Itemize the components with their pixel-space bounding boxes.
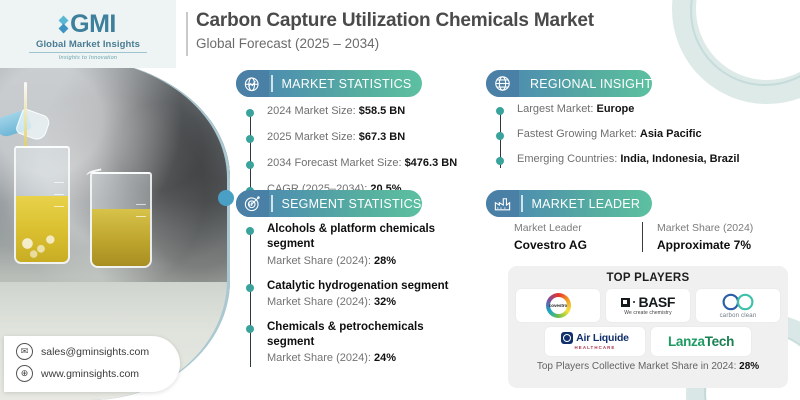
globe-chart-icon <box>236 70 269 97</box>
bullet-dot <box>496 107 504 115</box>
segment-share-label: Market Share (2024): <box>267 352 374 364</box>
bullet-dot <box>246 284 254 292</box>
gmi-logo-text: GMI <box>70 12 116 37</box>
bullet-dot <box>496 157 504 165</box>
globe-icon <box>486 70 519 97</box>
section-label: MARKET STATISTICS <box>282 77 412 91</box>
list-item: 2034 Forecast Market Size: $476.3 BN <box>246 156 460 172</box>
section-label: SEGMENT STATISTICS <box>282 197 422 211</box>
bullet-dot <box>246 161 254 169</box>
logo-carbon-clean[interactable]: carbon clean <box>696 289 780 322</box>
basf-dot-icon <box>633 301 636 304</box>
contact-website: www.gminsights.com <box>41 368 139 380</box>
graduation-line <box>54 206 64 207</box>
segment-share-value: 32% <box>374 296 396 308</box>
stat-label: 2034 Forecast Market Size: <box>267 157 405 169</box>
segment-share-label: Market Share (2024): <box>267 255 374 267</box>
stat-label: 2025 Market Size: <box>267 131 359 143</box>
regional-insights-list: Largest Market: Europe Fastest Growing M… <box>496 102 786 177</box>
list-item: Emerging Countries: India, Indonesia, Br… <box>496 152 786 168</box>
logo-air-liquide-sub: HEALTHCARE <box>575 346 616 350</box>
top-players-row-1: covestro BASF We create chemistry <box>516 289 780 322</box>
stat-value: $476.3 BN <box>405 157 458 169</box>
logo-air-liquide[interactable]: Air Liquide HEALTHCARE <box>545 327 645 356</box>
segment-name: Alcohols & platform chemicals segment <box>267 222 458 253</box>
region-label: Largest Market: <box>517 103 596 115</box>
segment-share-label: Market Share (2024): <box>267 296 374 308</box>
market-leader-column: Market Leader Covestro AG <box>500 222 642 252</box>
bullet-dot <box>246 227 254 235</box>
region-value: Asia Pacific <box>640 128 702 140</box>
logo-carbon-clean-text: carbon clean <box>718 313 758 319</box>
market-share-value: Approximate 7% <box>657 238 784 252</box>
segment-statistics-list: Alcohols & platform chemicals segment Ma… <box>246 222 458 376</box>
top-players-title: TOP PLAYERS <box>516 272 780 284</box>
beaker-left <box>14 146 70 264</box>
bullet-dot <box>246 325 254 333</box>
liquid-stream <box>24 82 27 148</box>
gmi-logo[interactable]: GMI Global Market Insights Insights to I… <box>8 12 168 61</box>
basf-square-icon <box>621 298 630 307</box>
contact-website-row[interactable]: ⊕ www.gminsights.com <box>16 365 180 382</box>
page-header: GMI Global Market Insights Insights to I… <box>0 0 800 68</box>
factory-icon <box>486 190 519 217</box>
logo-rule <box>29 52 147 53</box>
gmi-logo-tagline: Insights to Innovation <box>8 55 168 61</box>
page-title: Carbon Capture Utilization Chemicals Mar… <box>196 8 594 34</box>
beaker-right <box>90 172 152 268</box>
region-value: India, Indonesia, Brazil <box>620 153 739 165</box>
list-item: Alcohols & platform chemicals segment Ma… <box>246 222 458 270</box>
air-liquide-badge-icon <box>561 332 573 344</box>
segment-name: Catalytic hydrogenation segment <box>267 279 458 294</box>
top-players-footer: Top Players Collective Market Share in 2… <box>516 361 780 372</box>
market-share-column: Market Share (2024) Approximate 7% <box>642 222 784 252</box>
section-label: REGIONAL INSIGHTS <box>530 77 661 91</box>
stat-value: $58.5 BN <box>359 105 405 117</box>
section-header-market-statistics: MARKET STATISTICS <box>236 70 422 97</box>
segment-share-value: 28% <box>374 255 396 267</box>
bullet-dot <box>496 132 504 140</box>
infographic-canvas: GMI Global Market Insights Insights to I… <box>0 0 800 400</box>
contact-panel: ✉ sales@gminsights.com ⊕ www.gminsights.… <box>4 336 180 392</box>
collective-share-value: 28% <box>739 361 759 372</box>
list-item: Catalytic hydrogenation segment Market S… <box>246 279 458 311</box>
graduation-line <box>136 204 146 205</box>
region-label: Fastest Growing Market: <box>517 128 640 140</box>
email-icon: ✉ <box>16 343 33 360</box>
pill-separator <box>271 75 273 92</box>
title-divider <box>186 12 188 56</box>
gmi-logo-name: Global Market Insights <box>8 39 168 50</box>
contact-email-row[interactable]: ✉ sales@gminsights.com <box>16 343 180 360</box>
top-players-card: TOP PLAYERS covestro BASF We create chem… <box>508 266 788 388</box>
section-header-market-leader: MARKET LEADER <box>486 190 652 217</box>
graduation-line <box>54 194 64 195</box>
contact-email: sales@gminsights.com <box>41 346 149 358</box>
carbon-clean-infinity-icon <box>718 293 758 311</box>
title-block: Carbon Capture Utilization Chemicals Mar… <box>196 8 594 51</box>
gmi-logo-mark: GMI <box>8 12 168 37</box>
logo-covestro[interactable]: covestro <box>516 289 600 322</box>
section-header-regional-insights: REGIONAL INSIGHTS <box>486 70 652 97</box>
page-subtitle: Global Forecast (2025 – 2034) <box>196 36 594 51</box>
logo-basf-tagline: We create chemistry <box>621 311 675 316</box>
logo-basf[interactable]: BASF We create chemistry <box>606 289 690 322</box>
logo-lanzatech[interactable]: LanzaTech <box>651 327 751 356</box>
graduation-line <box>54 182 64 183</box>
region-value: Europe <box>596 103 634 115</box>
market-leader-value: Covestro AG <box>514 238 642 252</box>
graduation-line <box>136 216 146 217</box>
stat-value: $67.3 BN <box>359 131 405 143</box>
logo-lanzatech-text-2: Tech <box>705 334 734 349</box>
logo-lanzatech-text-1: Lanza <box>668 334 705 349</box>
target-chart-icon <box>236 190 269 217</box>
globe-icon: ⊕ <box>16 365 33 382</box>
stat-label: 2024 Market Size: <box>267 105 359 117</box>
segment-share-value: 24% <box>374 352 396 364</box>
region-label: Emerging Countries: <box>517 153 620 165</box>
top-players-row-2: Air Liquide HEALTHCARE LanzaTech <box>516 327 780 356</box>
beaker-right-liquid <box>92 209 150 266</box>
collective-share-label: Top Players Collective Market Share in 2… <box>537 361 739 372</box>
list-item: Fastest Growing Market: Asia Pacific <box>496 127 786 143</box>
list-item: 2025 Market Size: $67.3 BN <box>246 130 460 146</box>
logo-air-liquide-text: Air Liquide <box>576 333 629 344</box>
logo-basf-text: BASF <box>638 295 675 309</box>
market-leader-caption: Market Leader <box>514 222 642 236</box>
pill-separator <box>521 195 523 212</box>
list-item: Largest Market: Europe <box>496 102 786 118</box>
diamond-icon <box>60 17 67 32</box>
logo-covestro-text: covestro <box>549 303 567 308</box>
market-share-caption: Market Share (2024) <box>657 222 784 236</box>
market-leader-details: Market Leader Covestro AG Market Share (… <box>500 222 790 252</box>
pill-separator <box>271 195 273 212</box>
list-item: 2024 Market Size: $58.5 BN <box>246 104 460 120</box>
bullet-dot <box>246 135 254 143</box>
bullet-dot <box>246 109 254 117</box>
accent-dot <box>218 190 234 206</box>
section-header-segment-statistics: SEGMENT STATISTICS <box>236 190 422 217</box>
segment-name: Chemicals & petrochemicals segment <box>267 320 458 351</box>
pouring-flask <box>0 110 54 144</box>
list-item: Chemicals & petrochemicals segment Marke… <box>246 320 458 368</box>
section-label: MARKET LEADER <box>532 197 641 211</box>
